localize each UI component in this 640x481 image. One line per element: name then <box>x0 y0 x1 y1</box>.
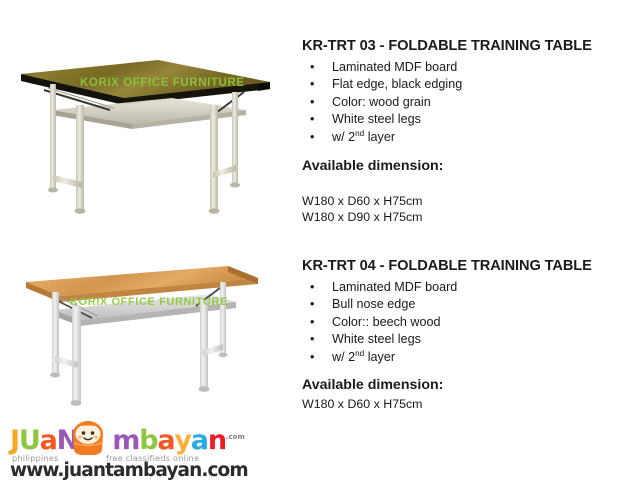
available-dimension-label-03: Available dimension: <box>302 158 632 174</box>
logo-letter: m <box>112 426 139 456</box>
juantambayan-logo[interactable]: JUaNTambayan.com philippines free classi… <box>10 420 220 476</box>
dimension-line: W180 x D60 x H75cm <box>302 396 632 412</box>
feature-text-prefix: w/ 2 <box>332 130 355 144</box>
feature-item-second-layer: • w/ 2nd layer <box>302 349 632 367</box>
logo-letter: a <box>157 426 174 456</box>
bullet-icon: • <box>310 59 314 77</box>
logo-letter: J <box>10 426 19 456</box>
feature-list-kr-trt-04: • Laminated MDF board • Bull nose edge •… <box>302 279 632 367</box>
table-illustration-04: KORIX OFFICE FURNITURE <box>14 254 276 414</box>
feature-text: Bull nose edge <box>332 297 415 311</box>
table-illustration-03: KORIX OFFICE FURNITURE <box>14 32 276 217</box>
product-photo-kr-trt-03: KORIX OFFICE FURNITURE <box>14 32 276 217</box>
logo-tld: .com <box>226 422 245 452</box>
bullet-icon: • <box>310 76 314 94</box>
feature-text-superscript: nd <box>355 349 364 358</box>
available-dimension-label-04: Available dimension: <box>302 377 632 393</box>
feature-item: • Bull nose edge <box>302 296 632 314</box>
bullet-icon: • <box>310 94 314 112</box>
feature-text-prefix: w/ 2 <box>332 350 355 364</box>
feature-text: Laminated MDF board <box>332 60 457 74</box>
product-text-kr-trt-03: KR-TRT 03 - FOLDABLE TRAINING TABLE • La… <box>302 38 632 225</box>
feature-item: • Laminated MDF board <box>302 59 632 77</box>
feature-text: White steel legs <box>332 112 421 126</box>
feature-text-superscript: nd <box>355 129 364 138</box>
logo-letter: n <box>208 426 226 456</box>
feature-item: • White steel legs <box>302 331 632 349</box>
feature-text: Color: wood grain <box>332 95 431 109</box>
dimension-line: W180 x D90 x H75cm <box>302 209 632 225</box>
logo-letter: U <box>19 426 40 456</box>
feature-text: Flat edge, black edging <box>332 77 462 91</box>
mascot-graphic <box>68 420 108 456</box>
logo-letter: a <box>40 426 57 456</box>
feature-item: • Color:: beech wood <box>302 314 632 332</box>
foldable-table-graphic-04 <box>14 254 276 414</box>
product-text-kr-trt-04: KR-TRT 04 - FOLDABLE TRAINING TABLE • La… <box>302 258 632 412</box>
bullet-icon: • <box>310 296 314 314</box>
dimension-list-03: W180 x D60 x H75cm W180 x D90 x H75cm <box>302 193 632 225</box>
feature-list-kr-trt-03: • Laminated MDF board • Flat edge, black… <box>302 59 632 147</box>
feature-text: White steel legs <box>332 332 421 346</box>
bullet-icon: • <box>310 111 314 129</box>
feature-text: Laminated MDF board <box>332 280 457 294</box>
bullet-icon: • <box>310 331 314 349</box>
feature-item-second-layer: • w/ 2nd layer <box>302 129 632 147</box>
product-title-kr-trt-04: KR-TRT 04 - FOLDABLE TRAINING TABLE <box>302 258 632 275</box>
dimension-line: W180 x D60 x H75cm <box>302 193 632 209</box>
foldable-table-graphic-03 <box>14 32 276 217</box>
feature-item: • Flat edge, black edging <box>302 76 632 94</box>
dimension-list-04: W180 x D60 x H75cm <box>302 396 632 412</box>
logo-letter: a <box>191 426 208 456</box>
product-block-kr-trt-03: KORIX OFFICE FURNITURE KR-TRT 03 - FOLDA… <box>0 0 640 235</box>
feature-item: • Laminated MDF board <box>302 279 632 297</box>
logo-letter: b <box>139 426 157 456</box>
logo-letter: y <box>174 426 190 456</box>
bullet-icon: • <box>310 279 314 297</box>
logo-wordmark: JUaNTambayan.com <box>10 422 245 456</box>
orange-mascot-icon <box>68 420 108 456</box>
bullet-icon: • <box>310 129 314 147</box>
feature-item: • White steel legs <box>302 111 632 129</box>
feature-text-suffix: layer <box>364 130 395 144</box>
product-block-kr-trt-04: KORIX OFFICE FURNITURE KR-TRT 04 - FOLDA… <box>0 248 640 418</box>
logo-url[interactable]: www.juantambayan.com <box>10 460 248 481</box>
bullet-icon: • <box>310 349 314 367</box>
feature-item: • Color: wood grain <box>302 94 632 112</box>
bullet-icon: • <box>310 314 314 332</box>
feature-text-suffix: layer <box>364 350 395 364</box>
feature-text: Color:: beech wood <box>332 315 441 329</box>
product-photo-kr-trt-04: KORIX OFFICE FURNITURE <box>14 254 276 414</box>
product-title-kr-trt-03: KR-TRT 03 - FOLDABLE TRAINING TABLE <box>302 38 632 55</box>
